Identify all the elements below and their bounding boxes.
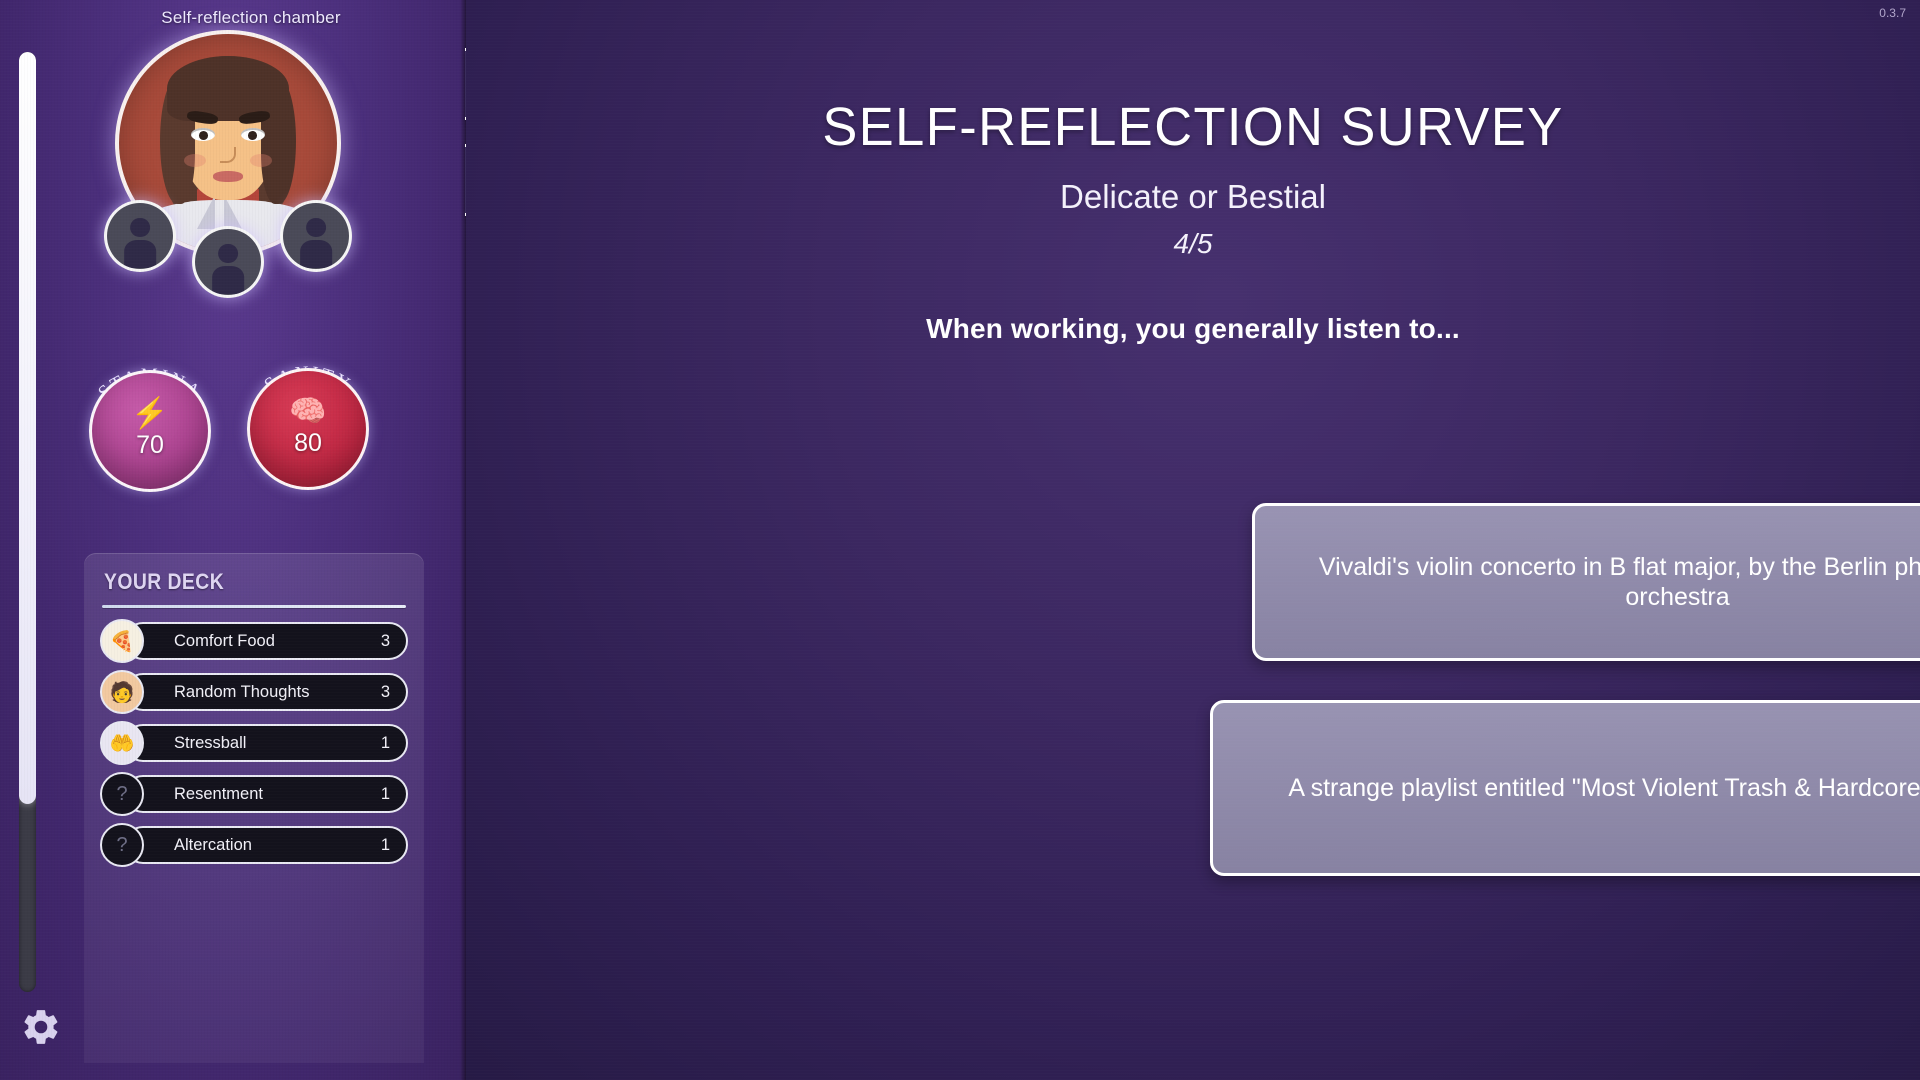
survey-progress: 4/5 (466, 228, 1920, 260)
person-icon (130, 218, 150, 238)
person-icon (218, 244, 238, 264)
deck-card-count: 1 (381, 734, 390, 753)
pizza-slice-icon: 🍕 (100, 619, 144, 663)
deck-card-row[interactable]: Altercation 1 ? (100, 826, 408, 864)
survey-panel: 0.3.7 SELF-REFLECTION SURVEY Delicate or… (466, 0, 1920, 1080)
deck-card-count: 3 (381, 632, 390, 651)
deck-card-pill: Random Thoughts 3 (124, 673, 408, 711)
gear-icon[interactable] (20, 1006, 62, 1048)
survey-question: When working, you generally listen to... (466, 313, 1920, 345)
stat-sanity[interactable]: SANITY 🧠 80 (247, 368, 369, 490)
answer-option-1[interactable]: Vivaldi's violin concerto in B flat majo… (1252, 503, 1920, 661)
stat-sanity-dial: 🧠 80 (247, 368, 369, 490)
stat-stamina[interactable]: STAMINA ⚡ 70 (89, 370, 211, 492)
person-icon (306, 218, 326, 238)
deck-card-name: Resentment (174, 785, 263, 804)
deck-card-row[interactable]: Stressball 1 🤲 (100, 724, 408, 762)
deck-card-row[interactable]: Resentment 1 ? (100, 775, 408, 813)
deck-card-row[interactable]: Comfort Food 3 🍕 (100, 622, 408, 660)
brain-icon: 🧠 (289, 397, 326, 427)
person-icon-body (300, 240, 332, 268)
portrait-collar-left (197, 195, 215, 229)
deck-card-pill: Resentment 1 (124, 775, 408, 813)
portrait-nose (220, 147, 235, 162)
portrait-blush-left (184, 154, 206, 167)
deck-divider (102, 605, 406, 608)
page-title: SELF-REFLECTION SURVEY (488, 96, 1898, 158)
deck-card-name: Altercation (174, 836, 252, 855)
portrait-collar-right (224, 195, 242, 229)
deck-card-name: Stressball (174, 734, 246, 753)
question-mark-icon: ? (100, 823, 144, 867)
deck-card-pill: Comfort Food 3 (124, 622, 408, 660)
time-progress-fill (19, 52, 36, 804)
person-icon-body (212, 266, 244, 294)
deck-card-pill: Stressball 1 (124, 724, 408, 762)
deck-card-pill: Altercation 1 (124, 826, 408, 864)
portrait-mouth (213, 171, 244, 182)
chamber-title: Self-reflection chamber (0, 8, 466, 28)
thinking-person-icon: 🧑 (100, 670, 144, 714)
time-progress-bar[interactable] (19, 52, 36, 992)
lightning-bolt-icon: ⚡ (131, 399, 168, 429)
deck-panel: YOUR DECK Comfort Food 3 🍕 Random Though… (84, 553, 424, 1063)
companion-avatar-2[interactable] (192, 226, 264, 298)
deck-card-name: Random Thoughts (174, 683, 309, 702)
stat-stamina-value: 70 (136, 431, 164, 460)
deck-card-count: 3 (381, 683, 390, 702)
stressball-icon: 🤲 (100, 721, 144, 765)
deck-card-count: 1 (381, 836, 390, 855)
person-icon-body (124, 240, 156, 268)
deck-title: YOUR DECK (104, 569, 372, 595)
deck-card-row[interactable]: Random Thoughts 3 🧑 (100, 673, 408, 711)
deck-card-count: 1 (381, 785, 390, 804)
character-sidebar: Self-reflection chamber (0, 0, 466, 1080)
companion-avatar-1[interactable] (104, 200, 176, 272)
answer-option-2[interactable]: A strange playlist entitled "Most Violen… (1210, 700, 1920, 876)
stat-stamina-dial: ⚡ 70 (89, 370, 211, 492)
game-screen: Self-reflection chamber (0, 0, 1920, 1080)
portrait-blush-right (250, 154, 272, 167)
portrait-pupil-left (199, 131, 209, 140)
companion-avatar-3[interactable] (280, 200, 352, 272)
version-label: 0.3.7 (1879, 6, 1906, 20)
survey-subtitle: Delicate or Bestial (466, 178, 1920, 216)
question-mark-icon: ? (100, 772, 144, 816)
stat-sanity-value: 80 (294, 429, 322, 458)
portrait-hair-front (167, 56, 289, 121)
deck-card-name: Comfort Food (174, 632, 275, 651)
